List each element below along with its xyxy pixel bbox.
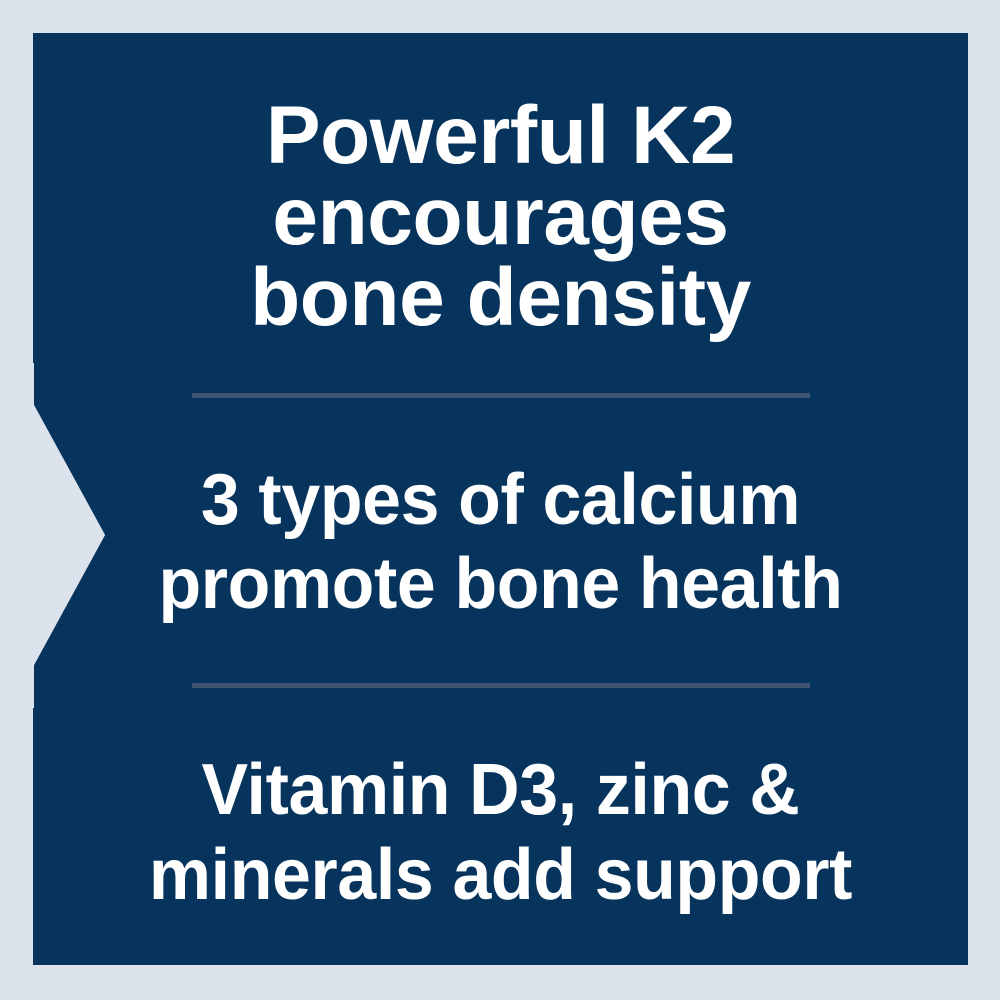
benefit-statement-vitamins: Vitamin D3, zinc & minerals add support bbox=[47, 748, 954, 918]
benefit-headline: Powerful K2 encourages bone density bbox=[33, 95, 968, 339]
benefit-divider-2 bbox=[192, 683, 810, 688]
benefit-divider-1 bbox=[192, 393, 810, 398]
marketing-panel-stage: Powerful K2 encourages bone density 3 ty… bbox=[0, 0, 1000, 1000]
benefits-panel: Powerful K2 encourages bone density 3 ty… bbox=[33, 33, 968, 965]
benefits-content: Powerful K2 encourages bone density 3 ty… bbox=[33, 33, 968, 965]
benefit-statement-calcium: 3 types of calcium promote bone health bbox=[47, 458, 954, 628]
